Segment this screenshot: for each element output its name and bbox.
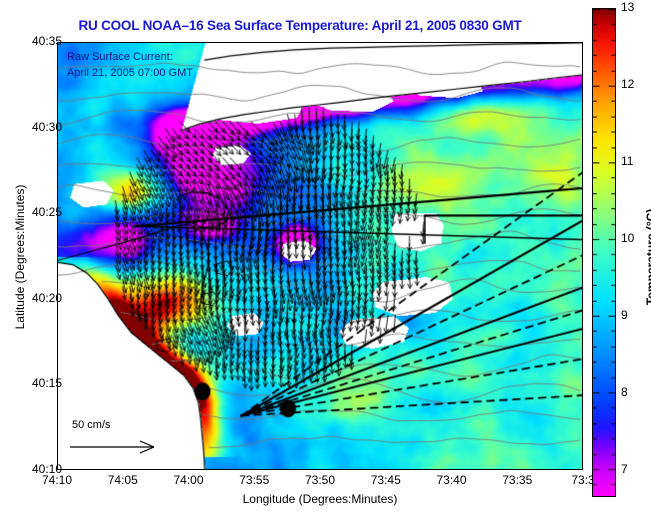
y-tick-4: 40:15: [32, 376, 62, 390]
x-tick-5: 73:45: [356, 473, 416, 487]
colorbar-gradient: [593, 9, 615, 496]
current-annotation-line1: Raw Surface Current:: [67, 51, 173, 63]
colorbar-tick-8: 8: [621, 385, 628, 399]
colorbar-tick-10: 10: [621, 231, 634, 245]
x-axis-title: Longitude (Degrees:Minutes): [57, 492, 583, 506]
colorbar-tick-13: 13: [621, 0, 634, 14]
colorbar-tick-9: 9: [621, 308, 628, 322]
velocity-scale-bar: 50 cm/s: [68, 419, 178, 457]
y-tick-0: 40:35: [32, 34, 62, 48]
x-tick-7: 73:35: [487, 473, 547, 487]
y-tick-1: 40:30: [32, 120, 62, 134]
y-tick-3: 40:20: [32, 291, 62, 305]
colorbar-tick-12: 12: [621, 77, 634, 91]
colorbar-tick-11: 11: [621, 154, 633, 168]
scale-bar-arrow-icon: [68, 419, 178, 457]
figure-title: RU COOL NOAA–16 Sea Surface Temperature:…: [0, 18, 600, 33]
y-tick-2: 40:25: [32, 205, 62, 219]
x-tick-3: 73:55: [224, 473, 284, 487]
colorbar-tick-7: 7: [621, 462, 628, 476]
y-axis-title: Latitude (Degrees:Minutes): [13, 157, 27, 357]
x-tick-2: 74:00: [159, 473, 219, 487]
sst-figure: RU COOL NOAA–16 Sea Surface Temperature:…: [0, 0, 651, 515]
colorbar: [592, 8, 616, 497]
map-overlay-canvas: [58, 43, 582, 469]
current-annotation-line2: April 21, 2005 07:00 GMT: [67, 67, 193, 79]
colorbar-title: Temperature (°C): [644, 172, 651, 342]
map-plot-area[interactable]: Raw Surface Current: April 21, 2005 07:0…: [57, 42, 583, 470]
x-tick-6: 73:40: [422, 473, 482, 487]
x-tick-1: 74:05: [93, 473, 153, 487]
x-tick-4: 73:50: [290, 473, 350, 487]
x-tick-0: 74:10: [27, 473, 87, 487]
